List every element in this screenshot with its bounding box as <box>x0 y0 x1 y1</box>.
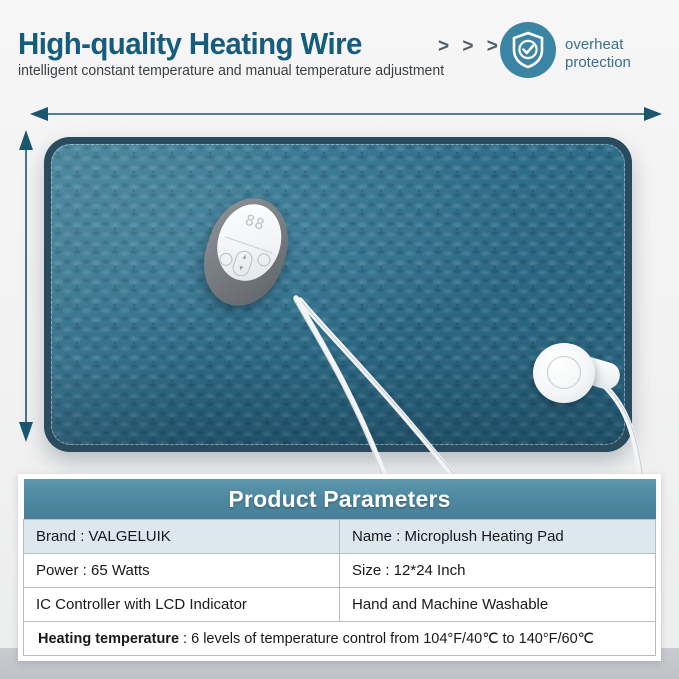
cell-name: Name : Microplush Heating Pad <box>340 520 656 554</box>
table-row: IC Controller with LCD Indicator Hand an… <box>24 588 656 622</box>
power-cables <box>0 122 679 474</box>
cell-washable: Hand and Machine Washable <box>340 588 656 622</box>
product-photo: 88 ▲ ▼ <box>0 122 679 474</box>
heating-temperature-value: 6 levels of temperature control from 104… <box>191 631 594 647</box>
cell-heating-temperature: Heating temperature : 6 levels of temper… <box>24 622 656 656</box>
page-subtitle: intelligent constant temperature and man… <box>18 63 444 79</box>
overheat-line-2: protection <box>565 54 631 72</box>
shield-check-icon <box>500 22 556 78</box>
cell-brand: Brand : VALGELUIK <box>24 520 340 554</box>
table-row: Heating temperature : 6 levels of temper… <box>24 622 656 656</box>
table-row: Power : 65 Watts Size : 12*24 Inch <box>24 554 656 588</box>
chevron-right-icon: > > > <box>438 36 502 58</box>
cell-controller: IC Controller with LCD Indicator <box>24 588 340 622</box>
lcd-display: 88 <box>233 205 278 239</box>
overheat-line-1: overheat <box>565 36 623 53</box>
heating-temperature-label: Heating temperature <box>38 631 179 647</box>
table-heading: Product Parameters <box>24 479 656 520</box>
product-parameters-table: Product Parameters Brand : VALGELUIK Nam… <box>23 479 656 656</box>
up-down-button[interactable]: ▲ ▼ <box>230 248 255 278</box>
magnetic-power-connector[interactable] <box>533 343 595 403</box>
overheat-protection-label: overheat protection <box>565 36 631 71</box>
product-parameters-card: Product Parameters Brand : VALGELUIK Nam… <box>18 474 661 661</box>
cell-power: Power : 65 Watts <box>24 554 340 588</box>
table-row: Brand : VALGELUIK Name : Microplush Heat… <box>24 520 656 554</box>
product-infographic: High-quality Heating Wire intelligent co… <box>0 0 679 679</box>
header-banner: High-quality Heating Wire intelligent co… <box>0 0 679 96</box>
cell-size: Size : 12*24 Inch <box>340 554 656 588</box>
power-button[interactable] <box>256 252 273 269</box>
width-dimension-arrow <box>30 106 662 122</box>
heating-temperature-separator: : <box>179 631 191 647</box>
page-title: High-quality Heating Wire <box>18 26 362 62</box>
